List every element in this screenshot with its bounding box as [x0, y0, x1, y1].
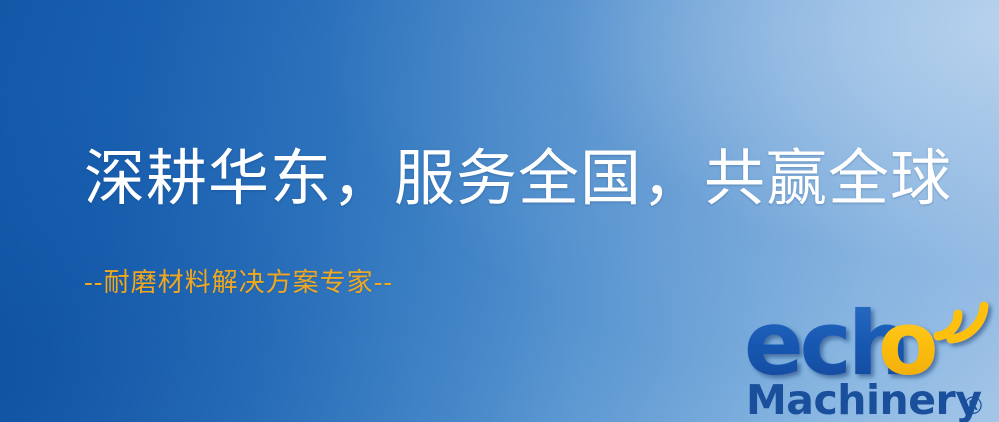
promotional-banner: 深耕华东，服务全国，共赢全球 --耐磨材料解决方案专家-- — [0, 0, 999, 422]
logo-subword-machinery: Machinery — [746, 376, 981, 422]
signal-arcs-icon — [938, 306, 984, 339]
logo-graphic: ech o Machinery ® — [744, 292, 999, 422]
echo-machinery-logo[interactable]: ech o Machinery ® — [744, 292, 999, 422]
signal-arc-inner — [938, 314, 958, 336]
banner-headline: 深耕华东，服务全国，共赢全球 — [84, 146, 944, 212]
logo-subword-group: Machinery ® — [746, 376, 985, 422]
banner-subtitle: --耐磨材料解决方案专家-- — [84, 212, 944, 299]
logo-trademark-symbol: ® — [961, 392, 985, 420]
banner-text-block: 深耕华东，服务全国，共赢全球 --耐磨材料解决方案专家-- — [84, 146, 944, 299]
